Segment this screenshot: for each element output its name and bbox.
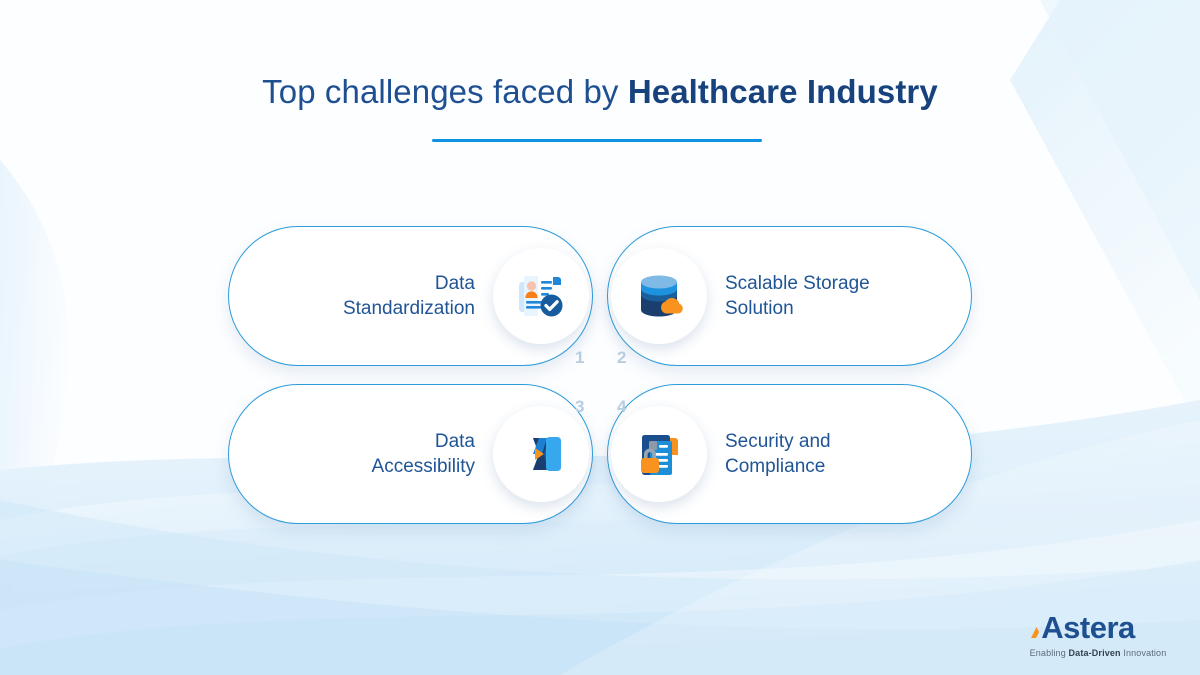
card-label-line2: Compliance [725,454,831,479]
challenge-card-scalable-storage-solution[interactable]: Scalable Storage Solution [607,226,972,366]
tagline-pre: Enabling [1030,648,1069,658]
title-underline-rule [432,139,762,142]
card-label-line1: Security and [725,429,831,454]
astera-wordmark-icon: Astera [1018,611,1158,647]
page-title: Top challenges faced by Healthcare Indus… [0,70,1200,114]
astera-logo-tagline: Enabling Data-Driven Innovation [1018,648,1178,658]
challenge-card-data-accessibility[interactable]: Data Accessibility [228,384,593,524]
card-number-1: 1 [575,349,584,366]
card-label: Security and Compliance [725,429,831,479]
id-document-verified-icon [513,268,569,324]
astera-logo[interactable]: Astera Enabling Data-Driven Innovation [1018,611,1178,658]
icon-bubble [493,248,589,344]
tagline-bold: Data-Driven [1069,648,1121,658]
card-label-line2: Standardization [343,296,475,321]
card-label-line1: Data [343,271,475,296]
tagline-post: Innovation [1121,648,1167,658]
page-title-emphasis: Healthcare Industry [628,73,938,110]
icon-bubble [611,406,707,502]
page-title-lead: Top challenges faced by [262,73,628,110]
icon-bubble [493,406,589,502]
card-label: Scalable Storage Solution [725,271,870,321]
card-label-line2: Accessibility [372,454,475,479]
challenge-card-security-and-compliance[interactable]: Security and Compliance [607,384,972,524]
card-label-line2: Solution [725,296,870,321]
document-padlock-icon [631,426,687,482]
icon-bubble [611,248,707,344]
card-label-line1: Data [372,429,475,454]
card-label: Data Accessibility [372,429,475,479]
card-label-line1: Scalable Storage [725,271,870,296]
page-title-wrap: Top challenges faced by Healthcare Indus… [0,70,1200,114]
card-label: Data Standardization [343,271,475,321]
challenge-card-data-standardization[interactable]: Data Standardization [228,226,593,366]
svg-text:Astera: Astera [1041,611,1136,645]
database-cloud-icon [631,268,687,324]
card-number-3: 3 [575,398,584,415]
door-entry-arrow-icon [513,426,569,482]
card-number-2: 2 [617,349,626,366]
card-number-4: 4 [617,398,626,415]
challenge-card-grid: Data Standardization [228,226,972,524]
